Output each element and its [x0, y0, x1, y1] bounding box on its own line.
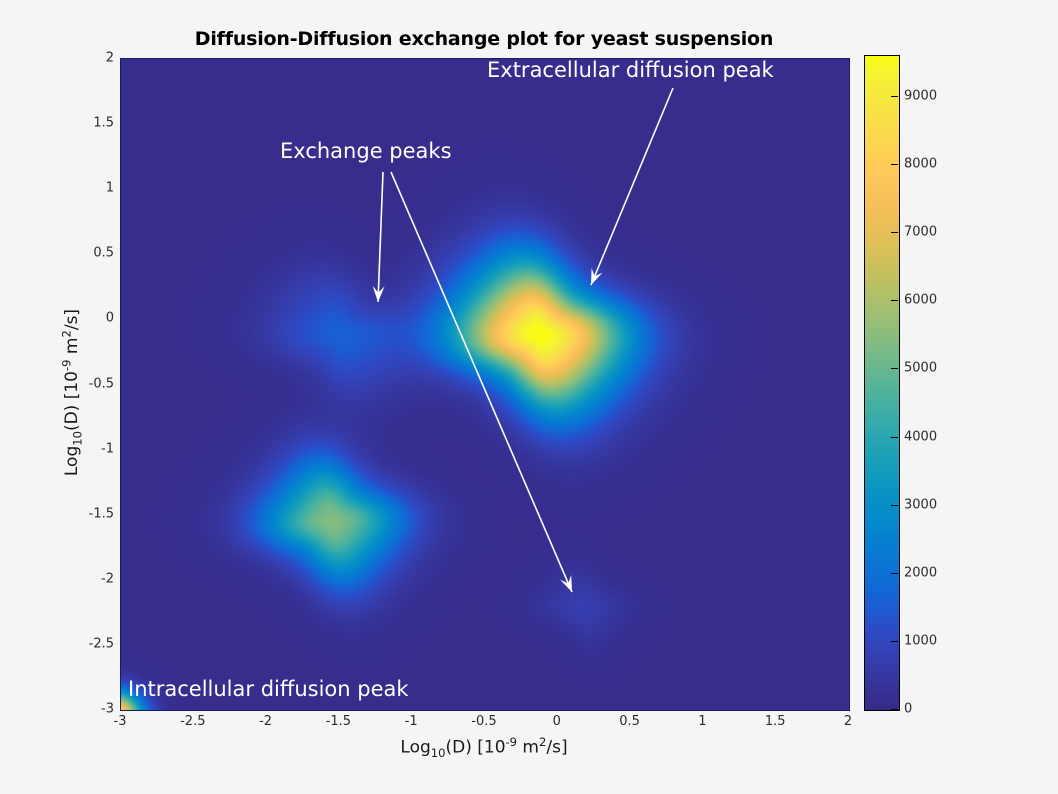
colorbar[interactable] [864, 55, 900, 711]
figure-root: Diffusion-Diffusion exchange plot for ye… [0, 0, 1058, 794]
colorbar-tick-label: 0 [904, 702, 912, 717]
colorbar-tick-mark [891, 437, 898, 438]
x-tick-label: -1.5 [326, 714, 351, 729]
x-tick-label: 1.5 [765, 714, 786, 729]
heatmap-plot-area[interactable] [120, 58, 850, 711]
x-tick-label: -1 [405, 714, 418, 729]
colorbar-tick-label: 3000 [904, 497, 937, 512]
x-tick-label: 0 [553, 714, 561, 729]
intracellular-peak-label: Intracellular diffusion peak [128, 677, 409, 701]
colorbar-tick-mark [891, 709, 898, 710]
extracellular-peak-label: Extracellular diffusion peak [487, 58, 774, 82]
colorbar-tick-label: 2000 [904, 565, 937, 580]
y-tick-label: -2 [72, 571, 114, 586]
colorbar-tick-label: 6000 [904, 293, 937, 308]
colorbar-tick-mark [891, 505, 898, 506]
colorbar-tick-label: 5000 [904, 361, 937, 376]
x-tick-label: -2.5 [180, 714, 205, 729]
x-tick-label: -3 [114, 714, 127, 729]
colorbar-tick-mark [891, 641, 898, 642]
y-tick-label: 0.5 [72, 246, 114, 261]
heatmap-canvas [121, 59, 849, 710]
colorbar-tick-mark [891, 232, 898, 233]
colorbar-tick-label: 1000 [904, 633, 937, 648]
exchange-peaks-label: Exchange peaks [280, 139, 452, 163]
x-tick-label: 0.5 [619, 714, 640, 729]
x-tick-label: 1 [698, 714, 706, 729]
colorbar-tick-label: 7000 [904, 225, 937, 240]
colorbar-tick-mark [891, 300, 898, 301]
y-tick-label: 1 [72, 181, 114, 196]
colorbar-tick-mark [891, 368, 898, 369]
y-tick-label: 2 [72, 51, 114, 66]
x-tick-label: -2 [259, 714, 272, 729]
colorbar-tick-mark [891, 164, 898, 165]
y-axis-label: Log10(D) [10-9 m2/s] [59, 263, 84, 523]
page-title: Diffusion-Diffusion exchange plot for ye… [120, 28, 848, 50]
y-tick-label: 1.5 [72, 116, 114, 131]
colorbar-tick-label: 9000 [904, 88, 937, 103]
y-tick-label: -3 [72, 702, 114, 717]
x-tick-label: -0.5 [471, 714, 496, 729]
colorbar-tick-mark [891, 96, 898, 97]
colorbar-tick-label: 4000 [904, 429, 937, 444]
x-axis-label: Log10(D) [10-9 m2/s] [120, 735, 848, 760]
y-tick-label: -2.5 [72, 636, 114, 651]
colorbar-tick-label: 8000 [904, 157, 937, 172]
x-tick-label: 2 [844, 714, 852, 729]
colorbar-tick-mark [891, 573, 898, 574]
